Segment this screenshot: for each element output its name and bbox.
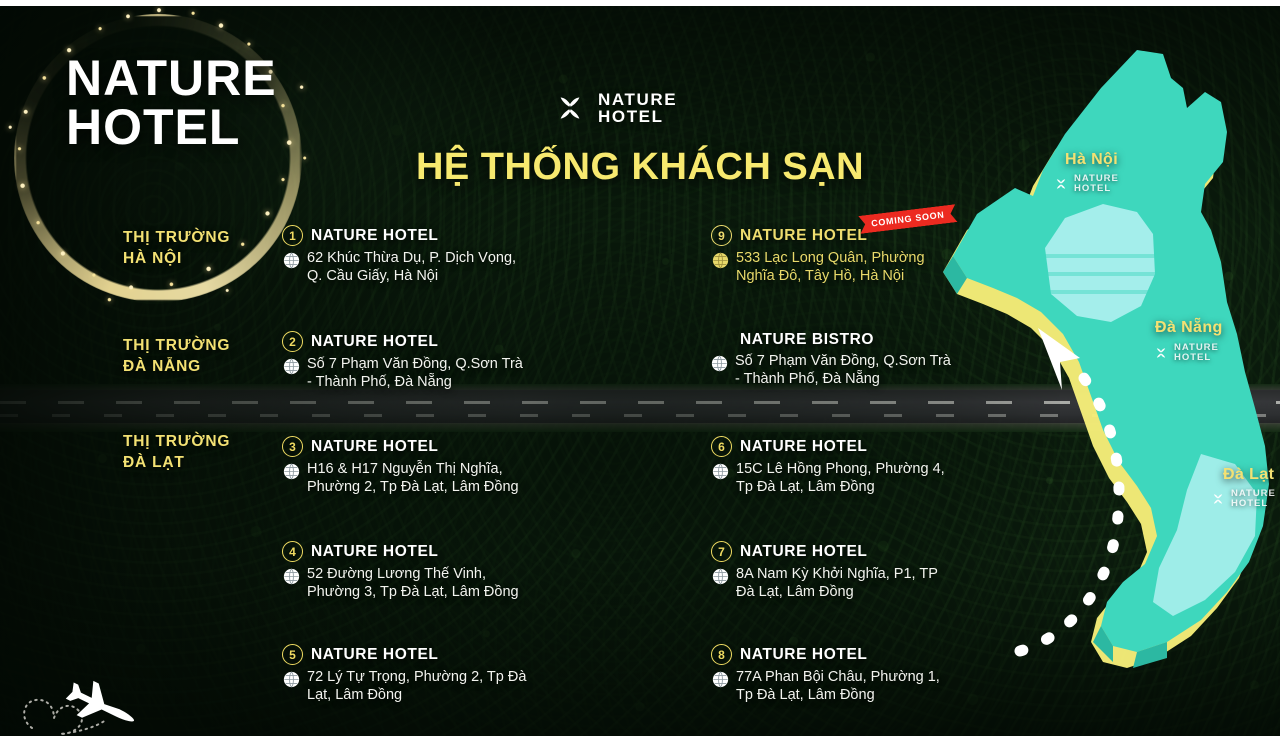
entry-address: 72 Lý Tự Trọng, Phường 2, Tp Đà Lạt, Lâm…: [282, 668, 602, 705]
entry-address: H16 & H17 Nguyễn Thị Nghĩa, Phường 2, Tp…: [282, 460, 602, 497]
airplane-icon: [61, 673, 141, 736]
globe-pin-icon: [712, 463, 729, 480]
list-item-3[interactable]: 3 NATURE HOTEL H16 & H17 Nguyễn Thị Nghĩ…: [282, 436, 602, 497]
entry-address-line2: Q. Cầu Giấy, Hà Nội: [307, 267, 516, 285]
entry-address-line1: Số 7 Phạm Văn Đồng, Q.Sơn Trà: [307, 355, 523, 373]
nature-hotel-pinwheel-logo-icon: [1210, 491, 1226, 507]
entry-address-line1: 62 Khúc Thừa Dụ, P. Dịch Vọng,: [307, 249, 516, 267]
entry-address-text: H16 & H17 Nguyễn Thị Nghĩa, Phường 2, Tp…: [307, 460, 519, 497]
entry-name: NATURE HOTEL: [311, 333, 438, 351]
market-danang-line1: THỊ TRƯỜNG: [123, 336, 230, 357]
entry-header: 2 NATURE HOTEL: [282, 331, 602, 352]
map-pin-dalat-words: NATURE HOTEL: [1231, 489, 1276, 509]
entry-address-line2: Phường 3, Tp Đà Lạt, Lâm Đồng: [307, 583, 519, 601]
map-pin-danang-words: NATURE HOTEL: [1174, 343, 1219, 363]
entry-name: NATURE HOTEL: [311, 646, 438, 664]
entry-address: 52 Đường Lương Thế Vinh, Phường 3, Tp Đà…: [282, 565, 602, 602]
map-pin-hanoi-sub2: HOTEL: [1074, 184, 1119, 194]
entry-address-line1: H16 & H17 Nguyễn Thị Nghĩa,: [307, 460, 519, 478]
entry-number-badge: 3: [282, 436, 303, 457]
market-label-dalat: THỊ TRƯỜNG ĐÀ LẠT: [123, 432, 230, 474]
globe-pin-icon: [283, 671, 300, 688]
entry-name: NATURE HOTEL: [740, 543, 867, 561]
market-dalat-line1: THỊ TRƯỜNG: [123, 432, 230, 453]
hero-title-line1: NATURE: [66, 54, 277, 103]
market-hanoi-line2: HÀ NỘI: [123, 249, 230, 270]
map-pin-dalat: NATURE HOTEL: [1210, 489, 1276, 509]
entry-number-badge: 9: [711, 225, 732, 246]
brand-wordmark: NATURE HOTEL: [598, 91, 677, 126]
entry-address-text: Số 7 Phạm Văn Đồng, Q.Sơn Trà - Thành Ph…: [307, 355, 523, 392]
poster-canvas: NATURE HOTEL NATURE HOTEL HỆ THỐNG KHÁCH…: [0, 6, 1280, 736]
entry-name: NATURE HOTEL: [740, 646, 867, 664]
market-label-danang: THỊ TRƯỜNG ĐÀ NẴNG: [123, 336, 230, 378]
entry-address-line1: 72 Lý Tự Trọng, Phường 2, Tp Đà: [307, 668, 526, 686]
entry-header: 1 NATURE HOTEL: [282, 225, 602, 246]
brand-name-line2: HOTEL: [598, 108, 677, 125]
dashed-curved-arrow-icon: [1000, 306, 1140, 666]
entry-header: 4 NATURE HOTEL: [282, 541, 602, 562]
nature-hotel-pinwheel-logo-icon: [552, 90, 588, 126]
entry-address-line2: Nghĩa Đô, Tây Hồ, Hà Nội: [736, 267, 925, 285]
page-title: NATURE HOTEL: [66, 54, 277, 152]
entry-address-text: 52 Đường Lương Thế Vinh, Phường 3, Tp Đà…: [307, 565, 519, 602]
list-item-2[interactable]: 2 NATURE HOTEL Số 7 Phạm Văn Đồng, Q.Sơn…: [282, 331, 602, 392]
entry-address-line1: 52 Đường Lương Thế Vinh,: [307, 565, 519, 583]
brand-logo: NATURE HOTEL: [552, 90, 677, 126]
list-item-1[interactable]: 1 NATURE HOTEL 62 Khúc Thừa Dụ, P. Dịch …: [282, 225, 602, 286]
entry-number-badge: 7: [711, 541, 732, 562]
hero-title-line2: HOTEL: [66, 103, 277, 152]
map-label-dalat: Đà Lạt: [1223, 466, 1274, 484]
nature-hotel-pinwheel-logo-icon: [1053, 176, 1069, 192]
entry-address-line2: - Thành Phố, Đà Nẵng: [307, 373, 523, 391]
map-pin-hanoi-words: NATURE HOTEL: [1074, 174, 1119, 194]
market-hanoi-line1: THỊ TRƯỜNG: [123, 228, 230, 249]
globe-pin-icon: [283, 568, 300, 585]
entry-name: NATURE HOTEL: [311, 543, 438, 561]
map-label-danang: Đà Nẵng: [1155, 319, 1223, 337]
map-pin-hanoi: NATURE HOTEL: [1053, 174, 1119, 194]
globe-pin-icon: [283, 358, 300, 375]
globe-pin-icon: [711, 355, 728, 372]
entry-number-badge: 4: [282, 541, 303, 562]
list-item-4[interactable]: 4 NATURE HOTEL 52 Đường Lương Thế Vinh, …: [282, 541, 602, 602]
map-pin-danang-sub2: HOTEL: [1174, 353, 1219, 363]
entry-address-line1: 533 Lạc Long Quân, Phường: [736, 249, 925, 267]
market-danang-line2: ĐÀ NẴNG: [123, 357, 230, 378]
market-label-hanoi: THỊ TRƯỜNG HÀ NỘI: [123, 228, 230, 270]
entry-number-badge: 1: [282, 225, 303, 246]
entry-number-badge: 6: [711, 436, 732, 457]
list-item-5[interactable]: 5 NATURE HOTEL 72 Lý Tự Trọng, Phường 2,…: [282, 644, 602, 705]
globe-pin-icon: [712, 568, 729, 585]
nature-hotel-pinwheel-logo-icon: [1153, 345, 1169, 361]
entry-name: NATURE HOTEL: [311, 438, 438, 456]
globe-pin-icon: [712, 252, 729, 269]
entry-name: NATURE HOTEL: [740, 438, 867, 456]
entry-number-badge: 2: [282, 331, 303, 352]
entry-address-line2: Phường 2, Tp Đà Lạt, Lâm Đồng: [307, 478, 519, 496]
entry-address-text: 62 Khúc Thừa Dụ, P. Dịch Vọng, Q. Cầu Gi…: [307, 249, 516, 286]
market-dalat-line2: ĐÀ LẠT: [123, 453, 230, 474]
entry-name: NATURE HOTEL: [740, 227, 867, 245]
airplane-heart-trail: [8, 666, 168, 736]
globe-pin-icon: [712, 671, 729, 688]
map-pin-danang: NATURE HOTEL: [1153, 343, 1219, 363]
map-label-hanoi: Hà Nội: [1065, 151, 1118, 169]
globe-pin-icon: [283, 463, 300, 480]
entry-name: NATURE HOTEL: [311, 227, 438, 245]
entry-name: NATURE BISTRO: [740, 331, 874, 349]
entry-number-badge: 8: [711, 644, 732, 665]
entry-address-text: 533 Lạc Long Quân, Phường Nghĩa Đô, Tây …: [736, 249, 925, 286]
entry-header: 3 NATURE HOTEL: [282, 436, 602, 457]
entry-number-badge: 5: [282, 644, 303, 665]
entry-header: 5 NATURE HOTEL: [282, 644, 602, 665]
entry-address: 62 Khúc Thừa Dụ, P. Dịch Vọng, Q. Cầu Gi…: [282, 249, 602, 286]
map-pin-dalat-sub2: HOTEL: [1231, 499, 1276, 509]
globe-pin-icon: [283, 252, 300, 269]
entry-address-line2: Lạt, Lâm Đồng: [307, 686, 526, 704]
brand-name-line1: NATURE: [598, 91, 677, 108]
entry-address: Số 7 Phạm Văn Đồng, Q.Sơn Trà - Thành Ph…: [282, 355, 602, 392]
entry-address-text: 72 Lý Tự Trọng, Phường 2, Tp Đà Lạt, Lâm…: [307, 668, 526, 705]
